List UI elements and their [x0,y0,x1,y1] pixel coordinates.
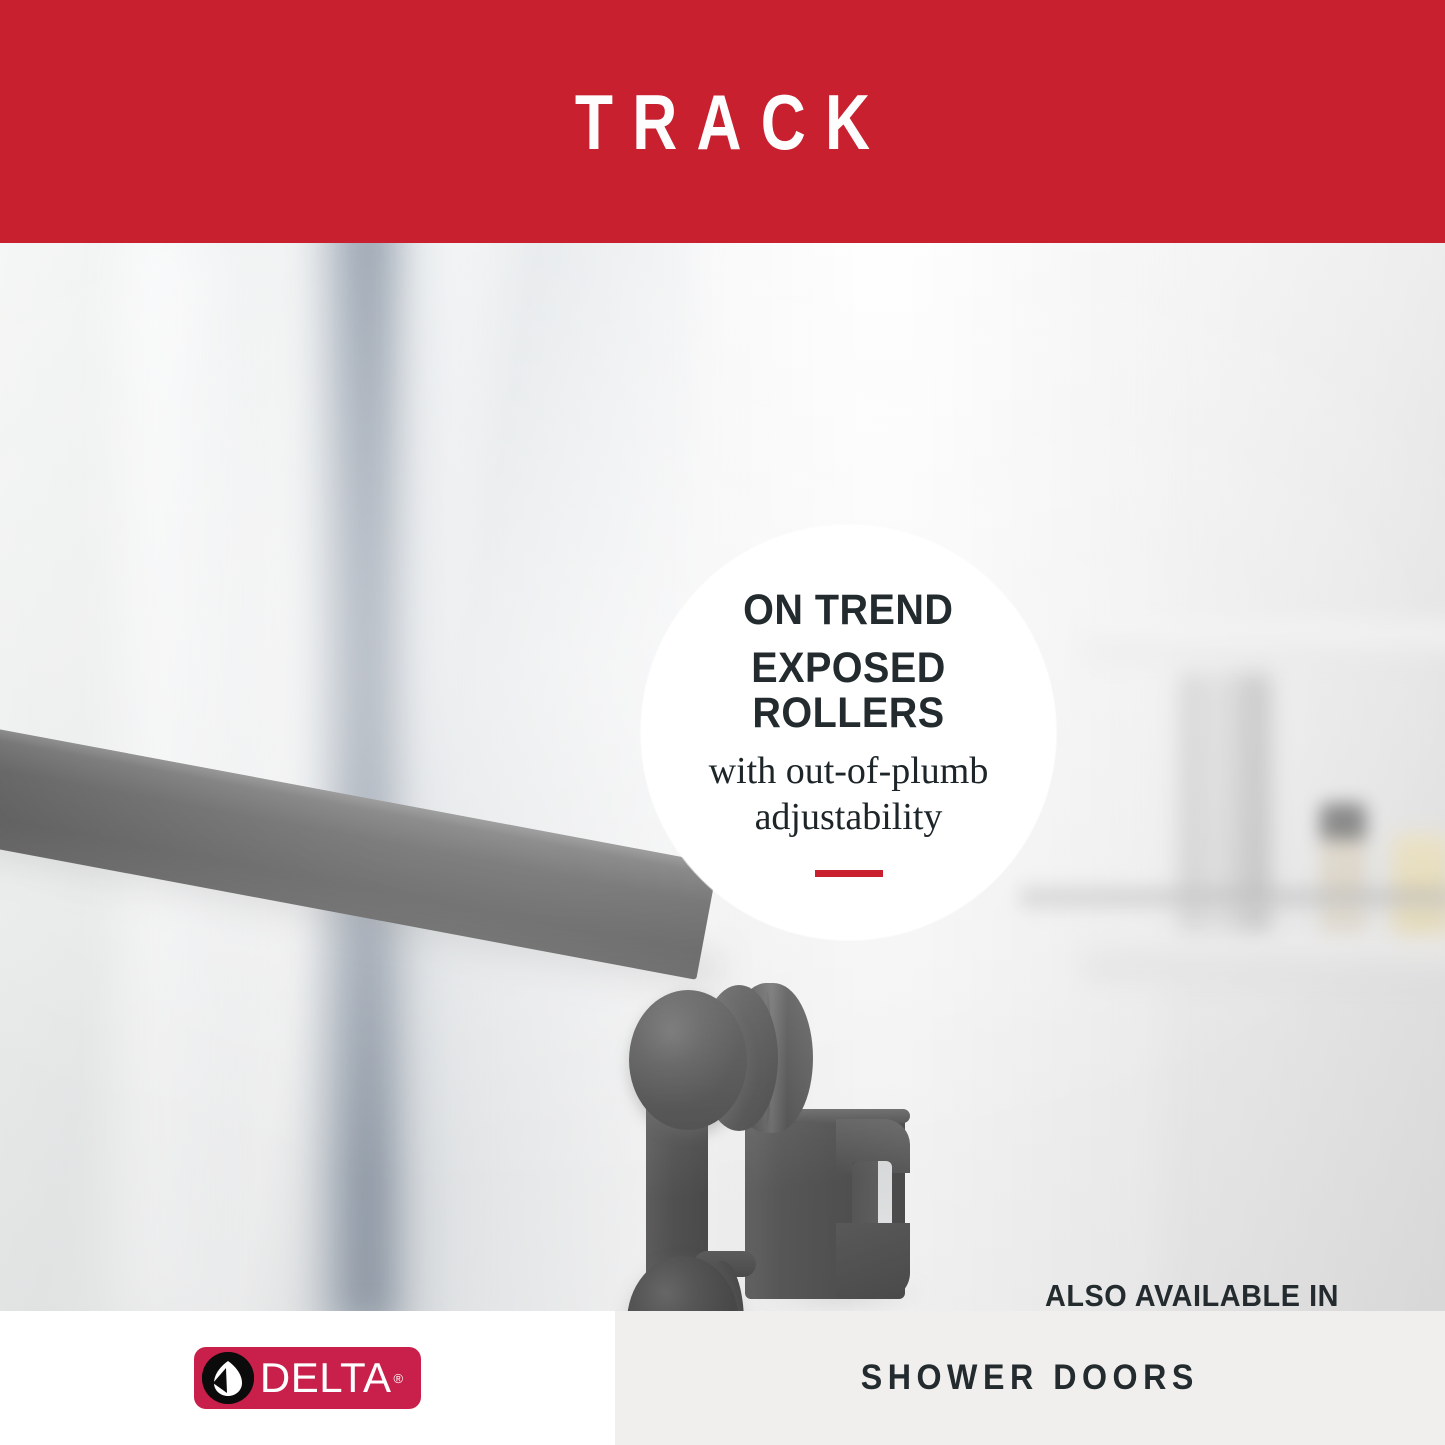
footer-brand-area: DELTA ® [0,1311,615,1445]
header-banner: TRACK [0,0,1445,243]
delta-triangle-icon [202,1352,254,1404]
callout-subtitle-line1: with out-of-plumb [709,748,989,794]
delta-wordmark: DELTA [260,1357,392,1399]
delta-logo[interactable]: DELTA ® [194,1347,421,1409]
product-marketing-image: TRACK [0,0,1445,1445]
finishes-heading: ALSO AVAILABLE IN [1034,1278,1350,1311]
callout-accent-rule [815,870,883,877]
callout-headline-line1: ON TREND [743,588,953,633]
page-title: TRACK [556,83,890,161]
product-photo: ON TREND EXPOSED ROLLERS with out-of-plu… [0,243,1445,1311]
callout-headline-line2: EXPOSED ROLLERS [658,646,1040,735]
footer-bar: DELTA ® SHOWER DOORS [0,1311,1445,1445]
callout-badge: ON TREND EXPOSED ROLLERS with out-of-plu… [641,525,1056,940]
registered-mark: ® [394,1371,404,1386]
footer-category-label: SHOWER DOORS [861,1358,1199,1398]
callout-subtitle-line2: adjustability [755,794,943,840]
footer-category-area: SHOWER DOORS [615,1311,1445,1445]
